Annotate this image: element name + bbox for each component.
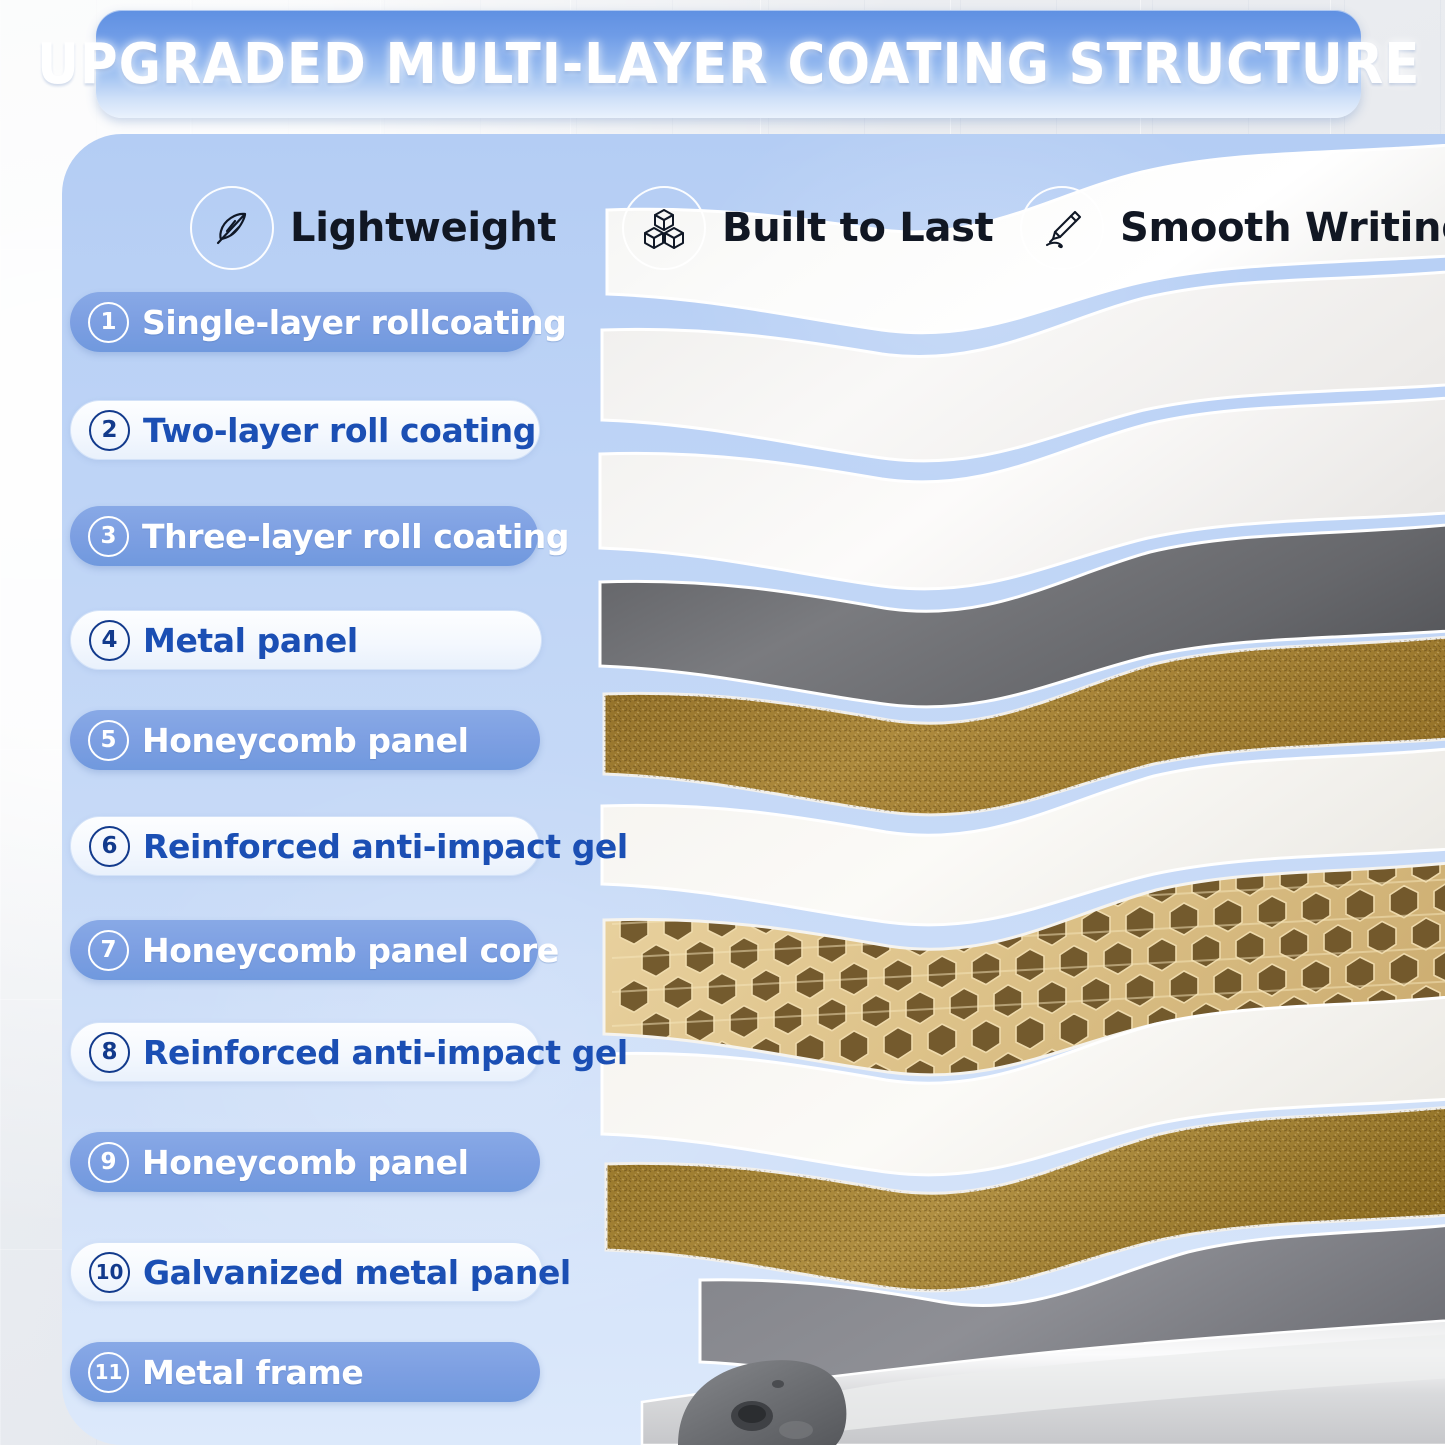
layer-number: 2	[89, 410, 130, 451]
layer-number: 10	[89, 1252, 130, 1293]
frame-corner-bracket	[678, 1360, 846, 1445]
layer-pill-11[interactable]: 11 Metal frame	[70, 1342, 540, 1402]
layer-number: 6	[89, 826, 130, 867]
layer-pill-3[interactable]: 3 Three-layer roll coating	[70, 506, 538, 566]
layer-pill-9[interactable]: 9 Honeycomb panel	[70, 1132, 540, 1192]
layer-pill-2[interactable]: 2 Two-layer roll coating	[70, 400, 540, 460]
layer-number: 3	[88, 516, 129, 557]
layer-pill-6[interactable]: 6 Reinforced anti-impact gel	[70, 816, 540, 876]
layer-label: Single-layer rollcoating	[142, 306, 566, 339]
layer-number: 5	[88, 720, 129, 761]
layer-number: 1	[88, 302, 129, 343]
layer-number: 4	[89, 620, 130, 661]
title-banner: UPGRADED MULTI-LAYER COATING STRUCTURE	[96, 10, 1361, 118]
layer-label: Honeycomb panel	[142, 724, 468, 757]
layer-label: Honeycomb panel core	[142, 934, 559, 967]
layer-label: Metal frame	[142, 1356, 363, 1389]
fountain-pen-icon	[1020, 186, 1104, 270]
layer-number: 8	[89, 1032, 130, 1073]
feature-label: Built to Last	[722, 205, 993, 251]
layer-number: 7	[88, 930, 129, 971]
feature-label: Smooth Writing	[1120, 205, 1445, 251]
layer-label: Honeycomb panel	[142, 1146, 468, 1179]
content-card: Lightweight Built to	[62, 134, 1445, 1445]
infographic-page: UPGRADED MULTI-LAYER COATING STRUCTURE	[0, 0, 1445, 1445]
feature-built-to-last: Built to Last	[622, 186, 993, 270]
layer-pill-4[interactable]: 4 Metal panel	[70, 610, 542, 670]
layer-label: Metal panel	[143, 624, 358, 657]
stacked-cubes-icon	[622, 186, 706, 270]
layer-number: 9	[88, 1142, 129, 1183]
layer-label: Reinforced anti-impact gel	[143, 830, 628, 863]
layer-label: Two-layer roll coating	[143, 414, 536, 447]
layer-illustration	[582, 134, 1445, 1445]
layer-label-list: 1 Single-layer rollcoating 2 Two-layer r…	[70, 134, 590, 1445]
layer-pill-8[interactable]: 8 Reinforced anti-impact gel	[70, 1022, 540, 1082]
layer-label: Galvanized metal panel	[143, 1256, 571, 1289]
page-title: UPGRADED MULTI-LAYER COATING STRUCTURE	[37, 32, 1420, 97]
layer-pill-10[interactable]: 10 Galvanized metal panel	[70, 1242, 543, 1302]
layer-pill-1[interactable]: 1 Single-layer rollcoating	[70, 292, 535, 352]
layer-label: Reinforced anti-impact gel	[143, 1036, 628, 1069]
layer-number: 11	[88, 1352, 129, 1393]
layer-label: Three-layer roll coating	[142, 520, 569, 553]
feature-smooth-writing: Smooth Writing	[1020, 186, 1445, 270]
layer-pill-7[interactable]: 7 Honeycomb panel core	[70, 920, 538, 980]
layer-pill-5[interactable]: 5 Honeycomb panel	[70, 710, 540, 770]
